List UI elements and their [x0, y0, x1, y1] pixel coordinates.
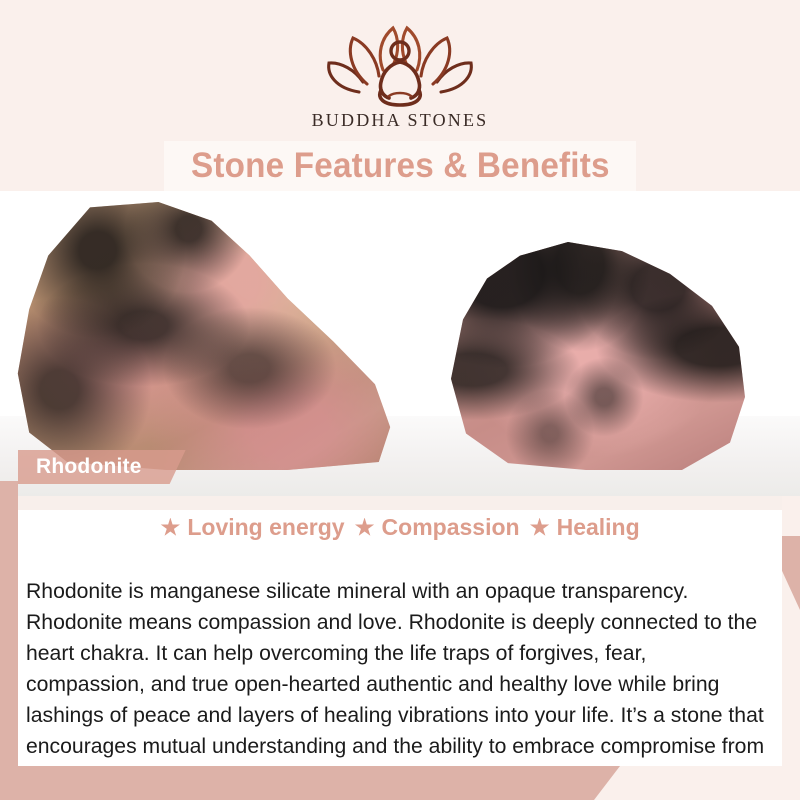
- benefit-label: Loving energy: [187, 514, 344, 541]
- left-accent-stripe: [0, 481, 18, 781]
- brand-header: BUDDHA STONES: [0, 0, 800, 140]
- title-banner: Stone Features & Benefits: [164, 141, 636, 191]
- brand-name: BUDDHA STONES: [250, 110, 550, 131]
- description-text: Rhodonite is manganese silicate mineral …: [26, 576, 765, 793]
- rhodonite-stone-left-image: [14, 202, 394, 470]
- bottom-accent-bar: [0, 766, 620, 800]
- star-icon: [530, 518, 550, 538]
- description-panel: Loving energy Compassion Healing Rhodoni…: [18, 496, 782, 766]
- benefit-label: Healing: [557, 514, 640, 541]
- page-title: Stone Features & Benefits: [191, 146, 610, 186]
- benefit-item-compassion: Compassion: [355, 514, 520, 541]
- brand-logo-block: BUDDHA STONES: [250, 18, 550, 131]
- star-icon: [355, 518, 375, 538]
- stone-name-label: Rhodonite: [36, 455, 142, 479]
- benefit-item-loving-energy: Loving energy: [160, 514, 344, 541]
- star-icon: [160, 518, 180, 538]
- panel-divider: [18, 496, 782, 510]
- benefits-row: Loving energy Compassion Healing: [18, 514, 782, 541]
- lotus-meditation-figure-icon: [315, 18, 485, 108]
- rhodonite-stone-right-image: [448, 242, 748, 470]
- benefit-label: Compassion: [382, 514, 520, 541]
- stone-name-tag: Rhodonite: [18, 450, 186, 484]
- infographic-page: BUDDHA STONES Stone Features & Benefits …: [0, 0, 800, 800]
- benefit-item-healing: Healing: [530, 514, 640, 541]
